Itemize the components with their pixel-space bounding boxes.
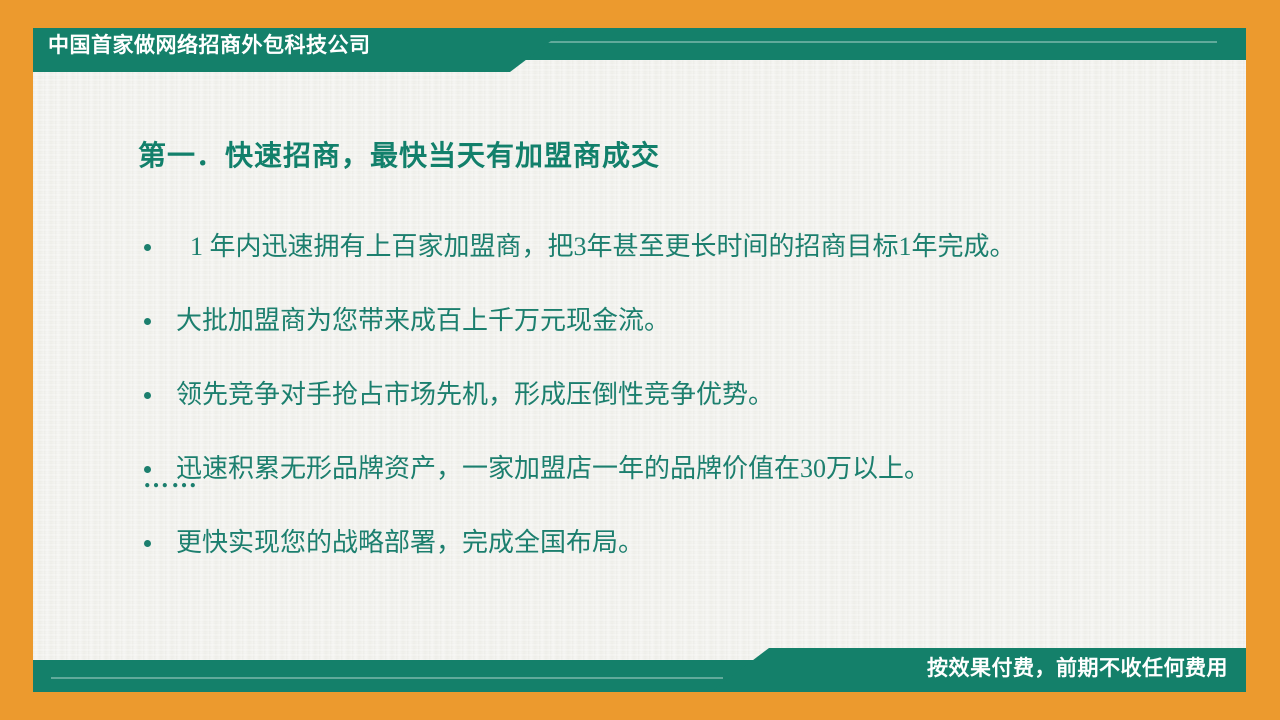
ellipsis-text: …… [143,464,199,494]
slide-root: 中国首家做网络招商外包科技公司 第一．快速招商，最快当天有加盟商成交 1 年内迅… [0,0,1280,720]
header-title: 中国首家做网络招商外包科技公司 [48,32,371,60]
footer-tagline: 按效果付费，前期不收任何费用 [927,654,1228,684]
list-item-label: 迅速积累无形品牌资产，一家加盟店一年的品牌价值在30万以上。 [176,454,930,483]
bullet-dot-icon [144,392,151,399]
slide-footer: 按效果付费，前期不收任何费用 [33,648,1246,692]
bullet-dot-icon [144,540,151,547]
footer-tagline-tab: 按效果付费，前期不收任何费用 [711,648,1246,692]
list-item: 1 年内迅速拥有上百家加盟商，把3年甚至更长时间的招商目标1年完成。 [138,230,1218,264]
page-title: 第一．快速招商，最快当天有加盟商成交 [138,134,660,174]
bullet-dot-icon [144,244,151,251]
list-item: 更快实现您的战略部署，完成全国布局。 [138,526,1218,560]
list-item: 迅速积累无形品牌资产，一家加盟店一年的品牌价值在30万以上。 [138,452,1218,486]
list-item: 大批加盟商为您带来成百上千万元现金流。 [138,304,1218,338]
header-divider-line [545,41,1217,43]
list-item-label: 大批加盟商为您带来成百上千万元现金流。 [176,306,670,335]
list-item-label: 1 年内迅速拥有上百家加盟商，把3年甚至更长时间的招商目标1年完成。 [190,232,1016,261]
bullet-dot-icon [144,318,151,325]
list-item: 领先竞争对手抢占市场先机，形成压倒性竞争优势。 [138,378,1218,412]
slide-header: 中国首家做网络招商外包科技公司 [33,28,1246,72]
footer-divider-line [51,677,723,679]
bullet-list: 1 年内迅速拥有上百家加盟商，把3年甚至更长时间的招商目标1年完成。 大批加盟商… [138,230,1218,600]
header-title-tab: 中国首家做网络招商外包科技公司 [33,28,568,72]
list-item-label: 更快实现您的战略部署，完成全国布局。 [176,528,644,557]
slide-body: 第一．快速招商，最快当天有加盟商成交 1 年内迅速拥有上百家加盟商，把3年甚至更… [33,72,1246,648]
list-item-label: 领先竞争对手抢占市场先机，形成压倒性竞争优势。 [176,380,774,409]
